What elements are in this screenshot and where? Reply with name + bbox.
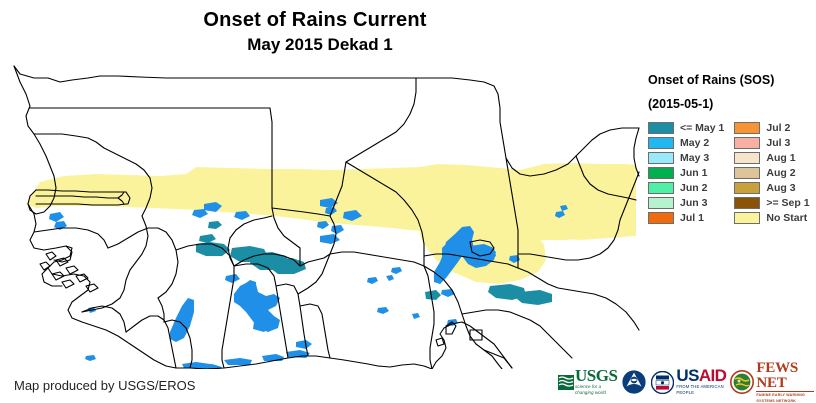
legend-label: May 2 [680, 137, 709, 149]
fews-net-logo: FEWS NET FAMINE EARLY WARNING SYSTEMS NE… [730, 365, 814, 399]
legend-item[interactable]: Jun 2 [648, 182, 724, 194]
usgs-text: USGS science for a changing world [575, 368, 617, 396]
legend-item[interactable]: Jun 3 [648, 197, 724, 209]
fews-globe-icon [730, 370, 754, 394]
legend-item[interactable]: Aug 1 [734, 152, 809, 164]
legend-item[interactable]: Jul 3 [734, 137, 809, 149]
legend-label: Jun 2 [680, 182, 707, 194]
legend-item[interactable]: Jun 1 [648, 167, 724, 179]
usaid-wordmark: USAID [676, 368, 726, 384]
legend-swatch [734, 167, 760, 179]
legend-swatch [648, 167, 674, 179]
usaid-word-aid: AID [699, 366, 726, 385]
usaid-tagline: FROM THE AMERICAN PEOPLE [676, 384, 726, 396]
legend-item[interactable]: No Start [734, 212, 809, 224]
noaa-seal-icon [621, 369, 647, 395]
legend-item[interactable]: May 2 [648, 137, 724, 149]
legend-date: (2015-05-1) [648, 96, 814, 112]
legend-item[interactable]: <= May 1 [648, 122, 724, 134]
legend-item[interactable]: >= Sep 1 [734, 197, 809, 209]
fews-wordmark: FEWS NET [756, 361, 814, 392]
legend-swatch [734, 122, 760, 134]
legend-column-right: Jul 2 Jul 3 Aug 1 Aug 2 Aug 3 [734, 122, 809, 224]
legend-swatch [648, 182, 674, 194]
legend-item[interactable]: May 3 [648, 152, 724, 164]
legend-label: No Start [766, 212, 807, 224]
noaa-logo [621, 365, 647, 399]
page-subtitle: May 2015 Dekad 1 [0, 34, 630, 56]
legend-item[interactable]: Aug 3 [734, 182, 809, 194]
legend-label: Aug 3 [766, 182, 795, 194]
legend-label: >= Sep 1 [766, 197, 809, 209]
usaid-word-us: US [676, 366, 698, 385]
legend-swatch [734, 197, 760, 209]
usaid-seal-icon [651, 371, 674, 394]
legend-label: Aug 1 [766, 152, 795, 164]
legend-swatch [648, 212, 674, 224]
legend-item[interactable]: Jul 1 [648, 212, 724, 224]
legend-label: Jul 2 [766, 122, 790, 134]
legend-swatch [734, 152, 760, 164]
legend-panel: Onset of Rains (SOS) (2015-05-1) <= May … [648, 72, 814, 224]
legend-title: Onset of Rains (SOS) [648, 72, 814, 88]
legend-swatch [734, 137, 760, 149]
fews-text: FEWS NET FAMINE EARLY WARNING SYSTEMS NE… [756, 361, 814, 403]
legend-label: Jul 3 [766, 137, 790, 149]
usgs-logo: USGS science for a changing world [558, 365, 617, 399]
legend-label: Jul 1 [680, 212, 704, 224]
legend-swatch [648, 197, 674, 209]
legend-label: Aug 2 [766, 167, 795, 179]
map-page: Onset of Rains Current May 2015 Dekad 1 [0, 0, 816, 403]
title-block: Onset of Rains Current May 2015 Dekad 1 [0, 8, 630, 56]
west-africa-map[interactable] [0, 64, 640, 369]
logo-strip: USGS science for a changing world USAID [558, 364, 814, 400]
legend-swatch [734, 212, 760, 224]
legend-swatch [648, 122, 674, 134]
usgs-tagline: science for a changing world [575, 384, 617, 396]
legend-item[interactable]: Aug 2 [734, 167, 809, 179]
map-canvas[interactable] [0, 64, 640, 369]
legend-label: <= May 1 [680, 122, 724, 134]
legend-columns: <= May 1 May 2 May 3 Jun 1 Jun 2 [648, 122, 814, 224]
map-credit: Map produced by USGS/EROS [14, 378, 195, 393]
legend-label: May 3 [680, 152, 709, 164]
legend-swatch [648, 137, 674, 149]
usgs-wave-icon [558, 375, 574, 390]
fews-tagline: FAMINE EARLY WARNING SYSTEMS NETWORK [756, 392, 814, 403]
usaid-text: USAID FROM THE AMERICAN PEOPLE [676, 368, 726, 396]
legend-column-left: <= May 1 May 2 May 3 Jun 1 Jun 2 [648, 122, 724, 224]
usaid-logo: USAID FROM THE AMERICAN PEOPLE [651, 365, 726, 399]
legend-swatch [734, 182, 760, 194]
page-title: Onset of Rains Current [0, 8, 630, 32]
usgs-wordmark: USGS [575, 368, 617, 384]
legend-swatch [648, 152, 674, 164]
legend-label: Jun 3 [680, 197, 707, 209]
legend-item[interactable]: Jul 2 [734, 122, 809, 134]
legend-label: Jun 1 [680, 167, 707, 179]
